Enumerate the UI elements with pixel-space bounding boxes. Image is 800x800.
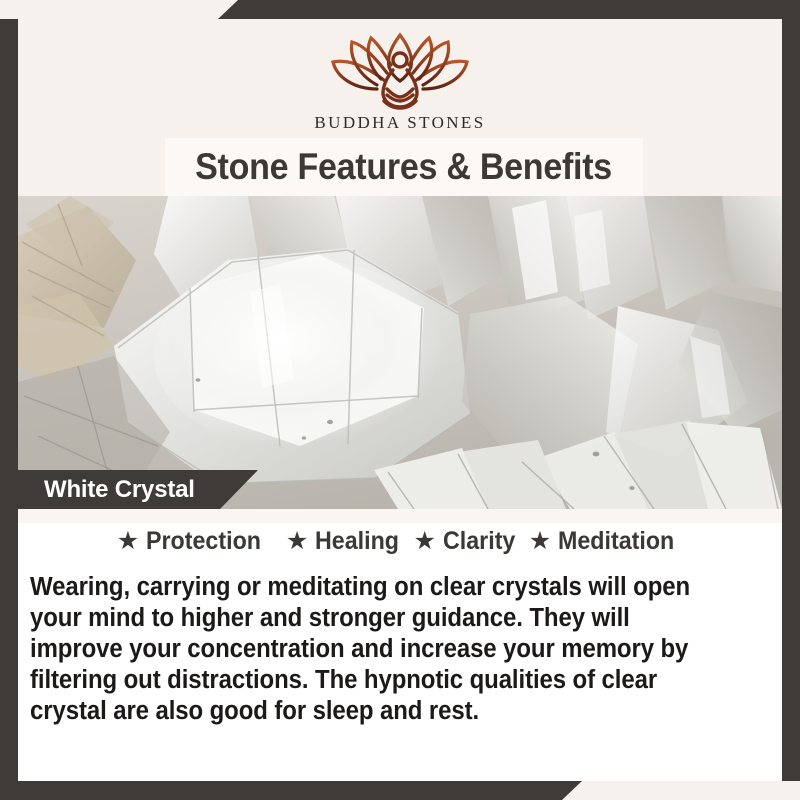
poster-page: BUDDHA STONES Stone Features & Benefits [18,19,782,781]
benefit-label: Meditation [558,527,674,556]
benefit-item-meditation: ★ Meditation [529,527,683,556]
header: BUDDHA STONES Stone Features & Benefits [18,19,782,196]
brand-logo: BUDDHA STONES [18,29,782,149]
star-icon: ★ [286,529,308,554]
frame-corner-top-left [0,0,20,19]
poster: BUDDHA STONES Stone Features & Benefits [0,0,800,800]
benefit-label: Clarity [443,527,515,556]
crystal-photo-image [18,196,782,509]
star-icon: ★ [117,529,139,554]
frame-border-right [782,0,800,800]
frame-border-bottom [0,781,800,800]
crystal-photo: White Crystal [18,196,782,509]
frame-border-top [0,0,800,19]
photo-label-text: White Crystal [44,476,195,504]
frame-border-left [0,0,18,800]
content-top-tint [18,509,782,523]
benefit-item-protection: ★ Protection [117,527,270,556]
page-title: Stone Features & Benefits [196,146,613,188]
benefit-item-healing: ★ Healing [286,527,406,556]
brand-name: BUDDHA STONES [314,113,485,133]
lotus-meditation-icon [325,29,475,111]
description-paragraph: Wearing, carrying or meditating on clear… [30,572,726,727]
title-band: Stone Features & Benefits [165,138,643,196]
benefits-list: ★ Protection ★ Healing ★ Clarity ★ Medit… [18,527,782,556]
benefit-item-clarity: ★ Clarity [414,527,521,556]
content-area: ★ Protection ★ Healing ★ Clarity ★ Medit… [18,509,782,781]
star-icon: ★ [529,529,551,554]
benefit-label: Protection [146,527,261,556]
star-icon: ★ [414,529,436,554]
benefit-label: Healing [315,527,399,556]
frame-corner-bottom-right [780,781,800,800]
